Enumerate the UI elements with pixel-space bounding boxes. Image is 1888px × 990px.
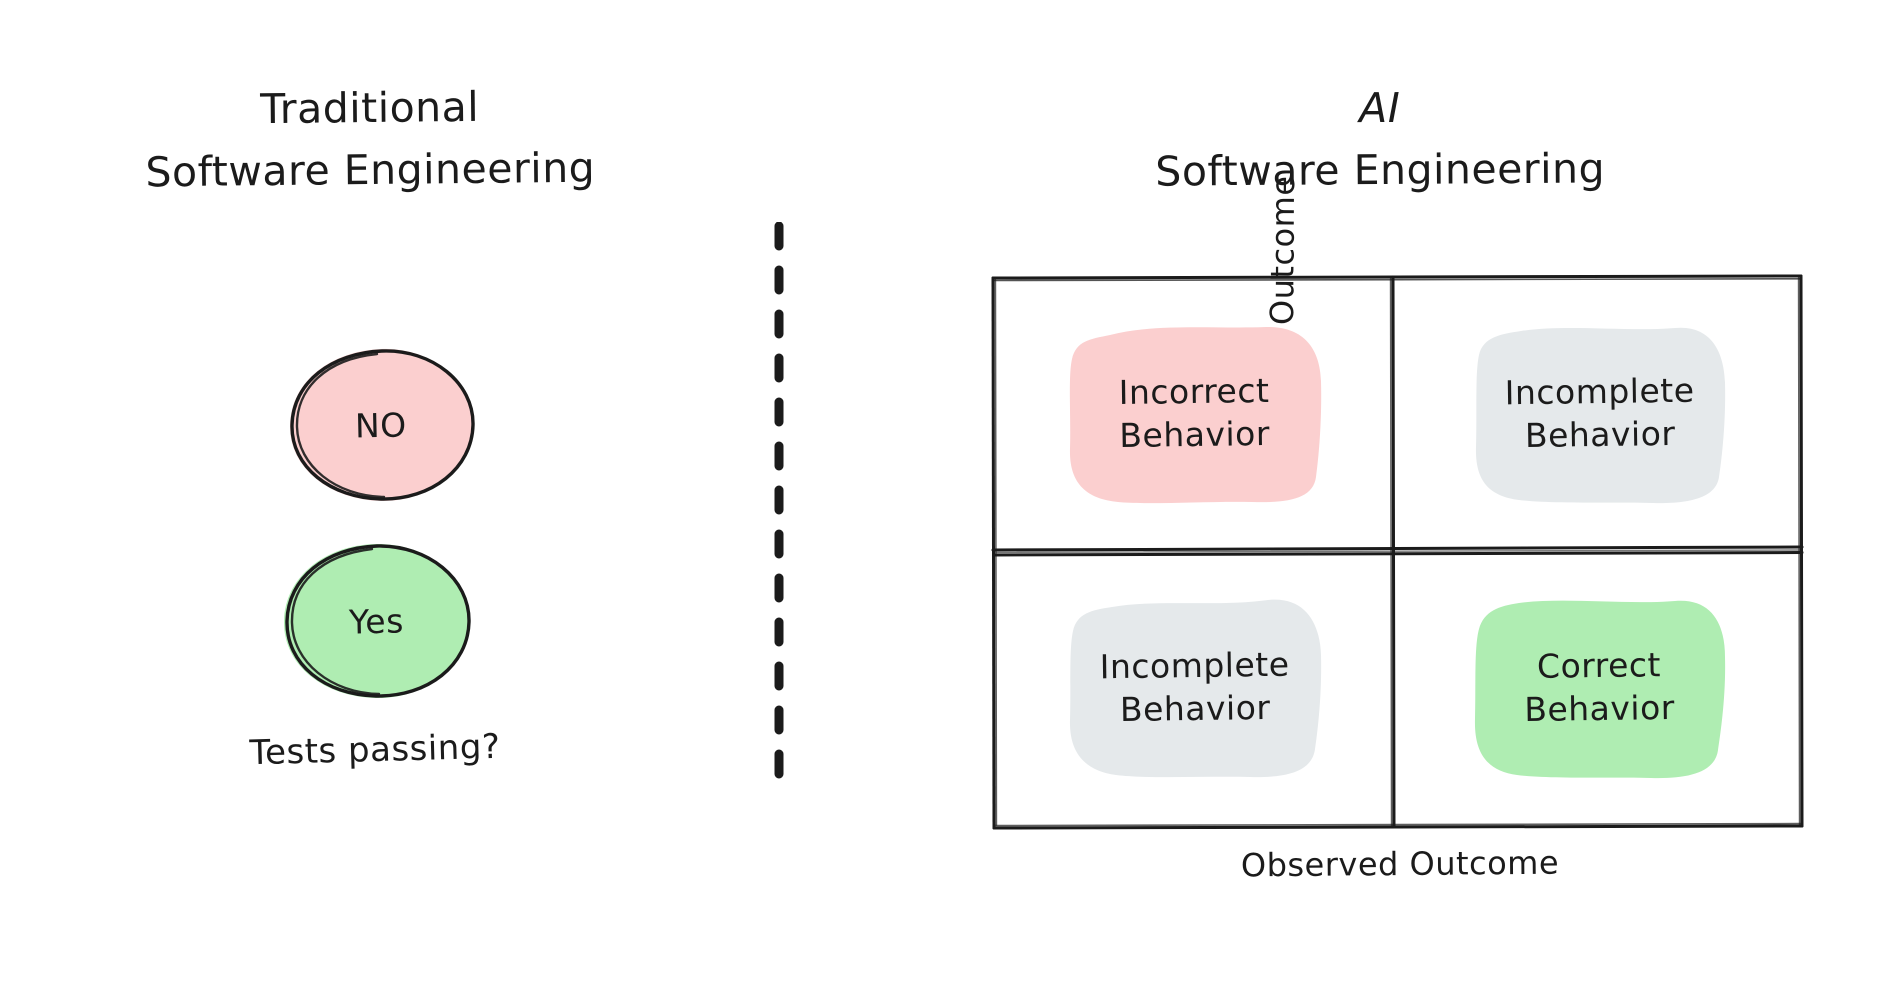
quadrant-top-right[interactable]: Incomplete Behavior bbox=[1397, 277, 1802, 551]
blob-incorrect-behavior: Incorrect Behavior bbox=[1066, 323, 1324, 505]
quadrant-tr-line1: Incomplete bbox=[1504, 370, 1694, 416]
quadrant-bottom-right[interactable]: Correct Behavior bbox=[1397, 551, 1802, 825]
blob-correct-behavior: Correct Behavior bbox=[1471, 597, 1729, 779]
quadrant-br-line1: Correct bbox=[1524, 644, 1675, 689]
blob-text-bottom-left: Incomplete Behavior bbox=[1099, 644, 1290, 732]
quadrant-tl-line2: Behavior bbox=[1119, 413, 1270, 458]
panel-divider bbox=[772, 222, 786, 792]
blob-text-top-right: Incomplete Behavior bbox=[1504, 370, 1695, 458]
left-title-line2: Software Engineering bbox=[90, 137, 651, 204]
blob-incomplete-behavior-bottom: Incomplete Behavior bbox=[1066, 597, 1324, 779]
quadrant-tl-line1: Incorrect bbox=[1119, 370, 1270, 415]
right-panel-title: AI Software Engineering bbox=[1060, 76, 1701, 203]
blob-text-top-left: Incorrect Behavior bbox=[1119, 370, 1271, 458]
blob-text-bottom-right: Correct Behavior bbox=[1524, 644, 1676, 732]
blob-incomplete-behavior-top: Incomplete Behavior bbox=[1471, 323, 1729, 505]
left-panel-title: Traditional Software Engineering bbox=[89, 75, 650, 204]
x-axis-label: Observed Outcome bbox=[1090, 842, 1710, 885]
quadrant-br-line2: Behavior bbox=[1524, 687, 1675, 732]
tests-passing-caption: Tests passing? bbox=[160, 724, 591, 775]
quadrant-bottom-left[interactable]: Incomplete Behavior bbox=[992, 551, 1397, 825]
quadrant-bl-line1: Incomplete bbox=[1099, 644, 1289, 690]
right-title-line2: Software Engineering bbox=[1060, 137, 1700, 203]
decision-node-no[interactable]: NO bbox=[285, 345, 477, 505]
left-title-line1: Traditional bbox=[260, 83, 479, 133]
outcome-matrix: Incorrect Behavior Incomplete Behavior bbox=[992, 277, 1802, 825]
yes-node-label: Yes bbox=[348, 601, 404, 641]
right-title-line1: AI bbox=[1060, 76, 1700, 142]
quadrant-tr-line2: Behavior bbox=[1505, 413, 1695, 459]
diagram-canvas: Traditional Software Engineering NO Yes … bbox=[0, 0, 1888, 990]
no-node-label: NO bbox=[355, 405, 407, 445]
quadrant-top-left[interactable]: Incorrect Behavior bbox=[992, 277, 1397, 551]
quadrant-bl-line2: Behavior bbox=[1100, 687, 1290, 733]
decision-node-yes[interactable]: Yes bbox=[278, 540, 474, 702]
